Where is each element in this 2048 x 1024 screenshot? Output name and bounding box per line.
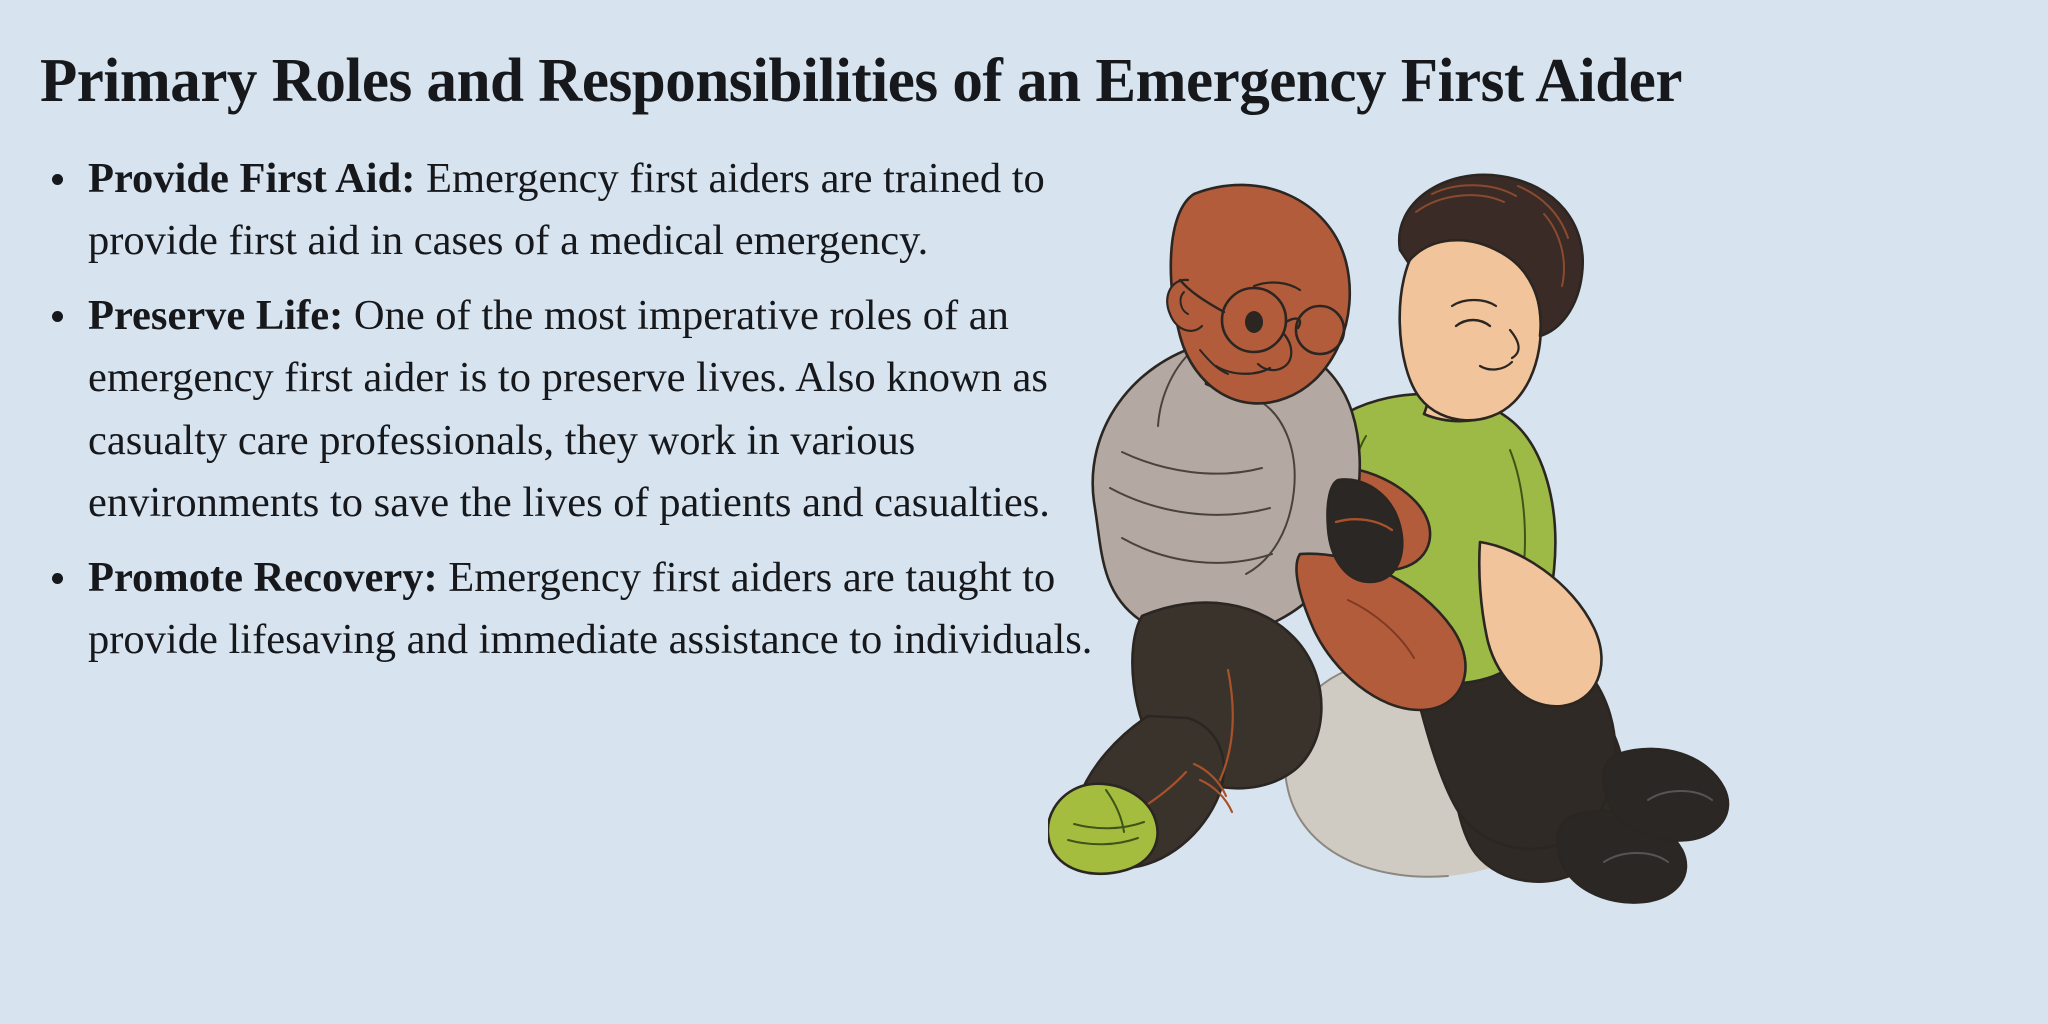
list-item: Preserve Life: One of the most imperativ… — [34, 285, 1114, 535]
list-item: Provide First Aid: Emergency first aider… — [34, 148, 1114, 273]
bullet-lead-label: Promote Recovery: — [88, 554, 438, 601]
bullet-dot-icon — [52, 174, 63, 185]
list-item: Promote Recovery: Emergency first aiders… — [34, 547, 1114, 672]
responsibilities-list: Provide First Aid: Emergency first aider… — [34, 148, 1114, 672]
bullet-dot-icon — [52, 573, 63, 584]
slide-canvas: Primary Roles and Responsibilities of an… — [0, 0, 2048, 1024]
bullet-lead-label: Provide First Aid: — [88, 155, 415, 202]
bullet-lead-label: Preserve Life: — [88, 292, 343, 339]
first-aider-helping-casualty-illustration — [1048, 150, 2048, 1024]
bullet-dot-icon — [52, 311, 63, 322]
page-title: Primary Roles and Responsibilities of an… — [40, 50, 2000, 112]
